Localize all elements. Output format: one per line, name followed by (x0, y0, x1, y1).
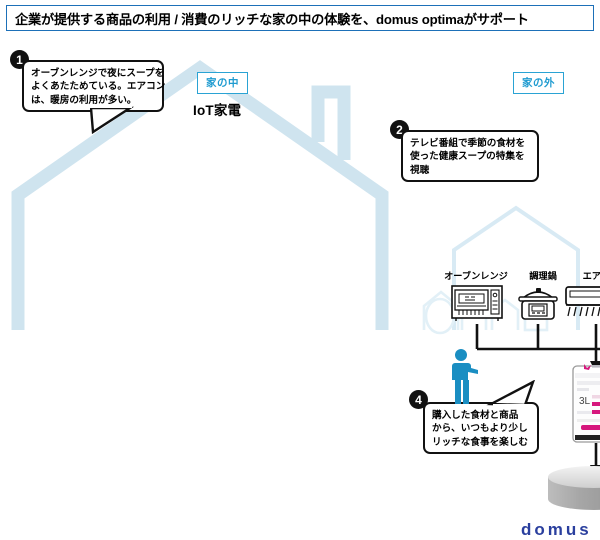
smartphone-app-mockup: 3L (570, 364, 600, 448)
zone-chip-outside: 家の外 (513, 72, 564, 94)
callout-1-line-2: よくあたためている。エアコン (31, 80, 155, 93)
data-cylinder-left (546, 466, 600, 514)
infographic-canvas: 企業が提供する商品の利用 / 消費のリッチな家の中の体験を、domus opti… (0, 0, 600, 414)
svg-text:3L: 3L (579, 396, 591, 407)
brand-domus-optima: domus optima (521, 520, 600, 540)
header-banner: 企業が提供する商品の利用 / 消費のリッチな家の中の体験を、domus opti… (6, 5, 594, 31)
device-label-1: 調理鍋 (517, 268, 569, 282)
callout-2-box: テレビ番組で季節の食材を 使った健康スープの特集を 視聴 3 外出中にスマホでお… (401, 130, 539, 182)
section-title-iot: IoT家電 (193, 99, 241, 119)
zone-chip-inside: 家の中 (197, 72, 248, 94)
page-title: 企業が提供する商品の利用 / 消費のリッチな家の中の体験を、domus opti… (15, 9, 529, 28)
device-label-2: エアコン (570, 268, 600, 282)
callout-2-line-2: 使った健康スープの特集を (410, 150, 530, 163)
person-figure-indoor-left (447, 348, 481, 406)
callout-1-pointer (90, 104, 140, 136)
callout-2-line-3: 視聴 (410, 164, 530, 177)
callout-2-line-1: テレビ番組で季節の食材を (410, 137, 530, 150)
callout-1-line-1: オーブンレンジで夜にスープを (31, 67, 155, 80)
device-label-0: オーブンレンジ (438, 268, 514, 282)
